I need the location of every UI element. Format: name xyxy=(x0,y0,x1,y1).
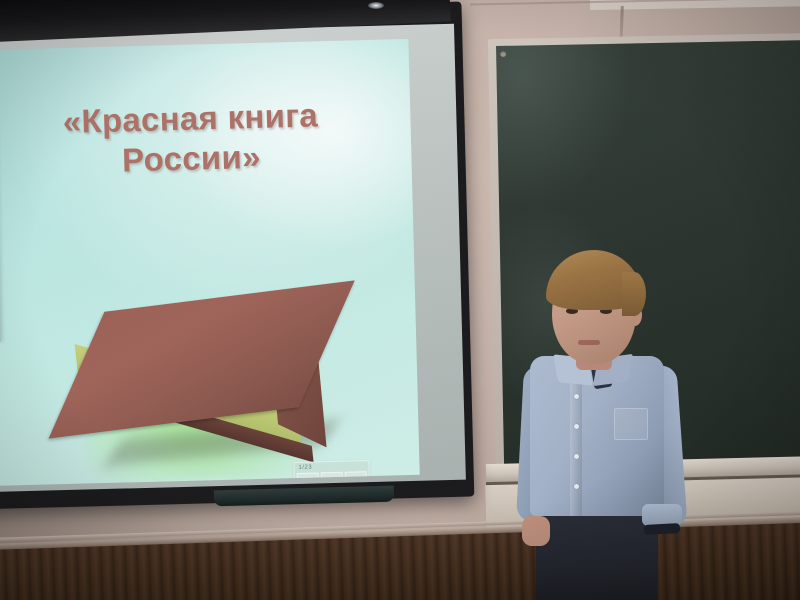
classroom-photo-scene: ая ГА ИИ «Красная книга России» 1/23 ⬅ xyxy=(0,0,800,600)
shirt-button xyxy=(574,454,579,459)
trousers xyxy=(536,506,658,600)
left-hand xyxy=(522,516,550,546)
mouth xyxy=(578,340,600,345)
slide-title-line-2: России» xyxy=(1,134,382,184)
interactive-whiteboard[interactable]: ая ГА ИИ «Красная книга России» 1/23 ⬅ xyxy=(0,2,474,515)
red-book-illustration xyxy=(73,287,348,487)
shirt-button xyxy=(574,424,579,429)
projected-slide[interactable]: ая ГА ИИ «Красная книга России» 1/23 ⬅ xyxy=(0,39,420,486)
shirt-chest-pocket xyxy=(614,408,648,440)
wrist-band xyxy=(644,523,680,535)
slide-title: «Красная книга России» xyxy=(0,94,382,184)
shirt-placket xyxy=(570,380,582,516)
shirt-button xyxy=(574,484,579,489)
hair-side xyxy=(622,272,646,316)
ceiling-light-highlight-icon xyxy=(368,2,384,9)
student-presenter xyxy=(512,248,702,600)
chalkboard-screw-icon xyxy=(500,51,506,57)
shirt-button xyxy=(574,394,579,399)
